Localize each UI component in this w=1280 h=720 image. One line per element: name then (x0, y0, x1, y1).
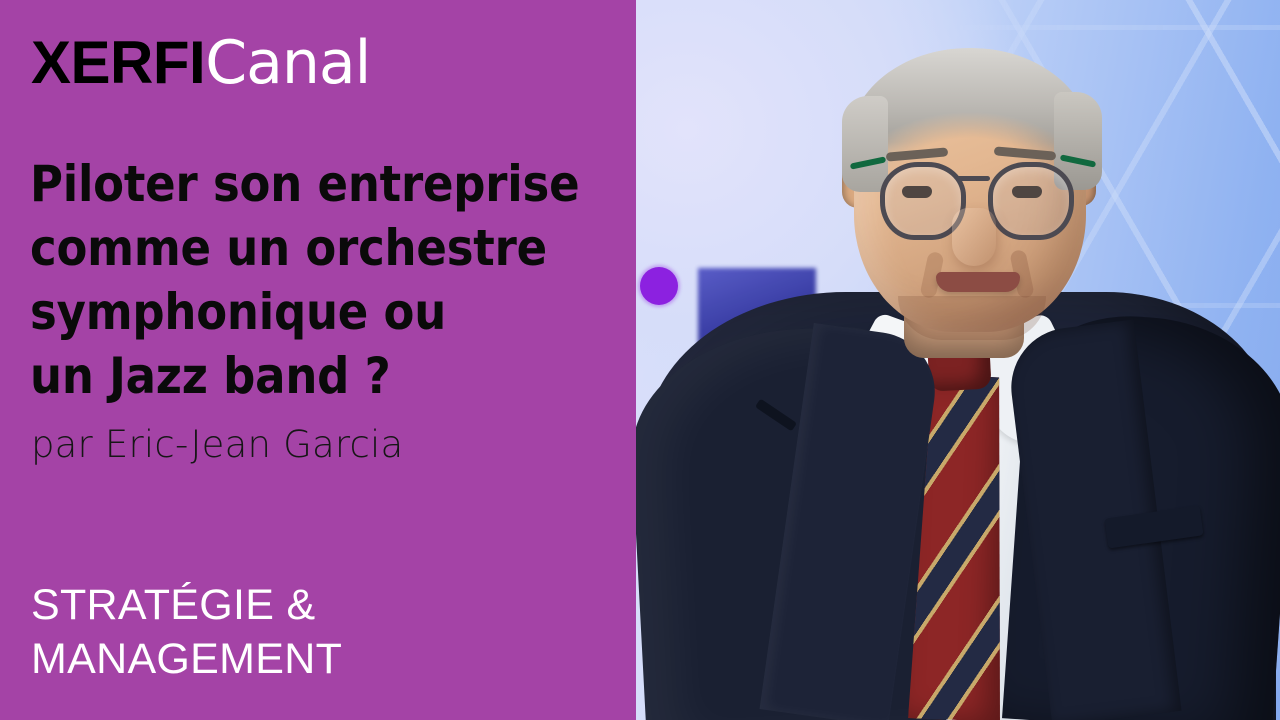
brand-logo-primary: XERFI (31, 29, 205, 96)
category-label: STRATÉGIE & MANAGEMENT (31, 578, 342, 686)
chin-shadow (898, 296, 1046, 340)
mouth (936, 272, 1020, 292)
hair-side-left (842, 96, 888, 192)
brand-logo-secondary: Canal (205, 28, 370, 98)
brand-logo: XERFICanal (31, 30, 370, 96)
video-thumbnail: XERFICanal Piloter son entreprise comme … (0, 0, 1280, 720)
eyeglasses-bridge (956, 176, 990, 181)
title-panel: XERFICanal Piloter son entreprise comme … (0, 0, 636, 720)
category-label-line-2: MANAGEMENT (31, 632, 342, 686)
video-title-line-2: comme un orchestre (30, 216, 636, 280)
video-title-line-4: un Jazz band ? (30, 344, 636, 408)
eyeglasses-lens-right (988, 162, 1074, 240)
author-byline: par Eric-Jean Garcia (31, 423, 403, 467)
video-title: Piloter son entreprise comme un orchestr… (30, 152, 636, 408)
speaker-photo (636, 0, 1280, 720)
video-title-line-1: Piloter son entreprise (30, 152, 636, 216)
speaker-portrait (636, 0, 1280, 720)
video-title-line-3: symphonique ou (30, 280, 636, 344)
category-label-line-1: STRATÉGIE & (31, 578, 342, 632)
nose (952, 208, 996, 266)
